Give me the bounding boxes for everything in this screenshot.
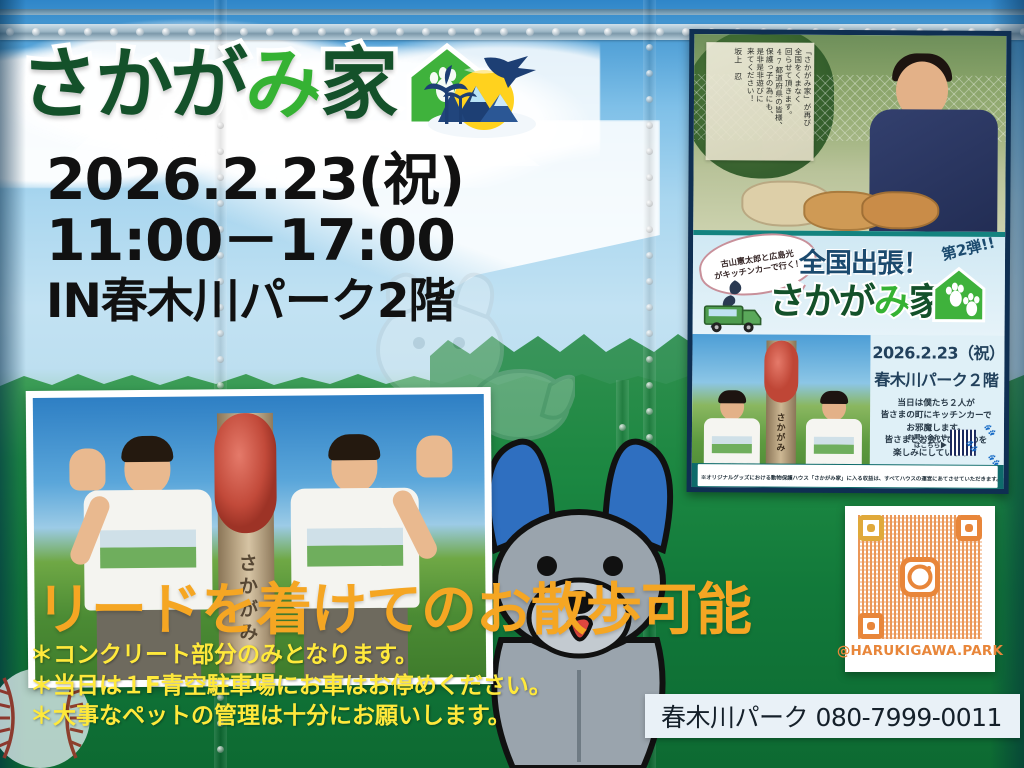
event-time: 11:00－17:00 — [46, 210, 606, 274]
poster-canvas: さかがみ家 — [0, 0, 1024, 768]
note-line: 保護っ子の為にも、 — [764, 47, 773, 155]
poster-logo-part1: さかが — [769, 280, 874, 324]
airplane-palm-mountain-badge-icon — [418, 52, 544, 144]
post-carving-text: さかがみ — [774, 413, 787, 453]
message-line: 当日は僕たち２人が — [897, 397, 974, 407]
handwritten-message-note: 「さかがみ家」が再び 全国をくまなく 回らせて頂きます。 47都道府県の皆様、 … — [706, 42, 815, 161]
poster-logo-green: み — [874, 280, 909, 323]
poster-two-men-photo: さかがみ 古山憲太郎 広島光 — [692, 334, 871, 477]
truck-top-rail — [0, 9, 1024, 15]
logo-text: さかがみ家 — [20, 48, 395, 122]
note-line: 回らせて頂きます。 — [783, 48, 792, 156]
poster-footnote: ※オリジナルグッズにおける動物保護ハウス「さかがみ家」に入る収益は、すべてハウス… — [701, 475, 1002, 483]
note-line: 47都道府県の皆様、 — [774, 48, 783, 156]
instagram-handle: @HARUKIGAWA.PARK — [837, 643, 1003, 659]
kitchen-car-truck-icon — [703, 300, 765, 334]
logo-text-green: み — [245, 40, 320, 130]
dog-house-paw-icon — [931, 266, 987, 324]
note-item: ＊コンクリート部分のみとなります。 — [30, 640, 670, 671]
poster-footnote-bar: ※オリジナルグッズにおける動物保護ハウス「さかがみ家」に入る収益は、すべてハウス… — [692, 463, 1004, 489]
poster-brand-logo: さかがみ家 — [769, 271, 944, 326]
note-line: 是非是非遊びに — [755, 47, 764, 155]
poster-date: 2026.2.23（祝） — [872, 339, 1000, 364]
poster-venue: 春木川パーク２階 — [872, 366, 1000, 391]
poster-title-band: 古山憲太郎と広島光 がキッチンカーで行く！ 全国出張！ 第2弾!! さかがみ家 — [693, 230, 1006, 336]
wooden-post: さかがみ — [766, 340, 797, 476]
event-date: 2026.2.23(祝) — [46, 150, 606, 210]
note-item: ＊当日は１F青空駐車場にお車はお停めください。 — [30, 671, 670, 702]
contact-label-1: お問い合わせ — [907, 434, 947, 441]
logo-text-part2: 家 — [320, 40, 395, 130]
note-line: 全国をくまなく — [793, 48, 802, 156]
instagram-qr-card[interactable]: @HARUKIGAWA.PARK — [845, 506, 995, 672]
message-line: 皆さまの町にキッチンカーで — [880, 410, 991, 421]
walk-allowed-headline: リードを着けてのお散歩可能 — [36, 565, 896, 646]
contact-text: 春木川パーク 080-7999-0011 — [661, 698, 1002, 734]
contact-label-2: はこちら▶ — [914, 443, 947, 450]
logo-text-part1: さかが — [20, 40, 245, 130]
note-line: 「さかがみ家」が再び — [802, 48, 811, 156]
rescue-dogs — [741, 158, 961, 231]
contact-bar: 春木川パーク 080-7999-0011 — [645, 694, 1020, 738]
notes-list: ＊コンクリート部分のみとなります。 ＊当日は１F青空駐車場にお車はお停めください… — [30, 640, 670, 732]
event-details-text: 2026.2.23(祝) 11:00－17:00 IN春木川パーク2階 — [46, 150, 606, 330]
instagram-qr-code[interactable] — [858, 515, 982, 639]
poster-event-info: 2026.2.23（祝） 春木川パーク２階 当日は僕たち２人が 皆さまの町にキッ… — [872, 339, 1001, 459]
note-signature: 坂上 忍 — [732, 47, 742, 155]
tour-poster: 「さかがみ家」が再び 全国をくまなく 回らせて頂きます。 47都道府県の皆様、 … — [687, 29, 1012, 494]
note-item: ＊大事なペットの管理は十分にお願いします。 — [30, 701, 670, 732]
event-venue: IN春木川パーク2階 — [46, 274, 606, 329]
note-line: 来てください！ — [745, 47, 754, 155]
poster-top-photo: 「さかがみ家」が再び 全国をくまなく 回らせて頂きます。 47都道府県の皆様、 … — [693, 34, 1006, 232]
poster-lower-section: さかがみ 古山憲太郎 広島光 2026.2.23（祝） 春木川 — [692, 334, 1005, 478]
instagram-icon — [900, 557, 940, 597]
